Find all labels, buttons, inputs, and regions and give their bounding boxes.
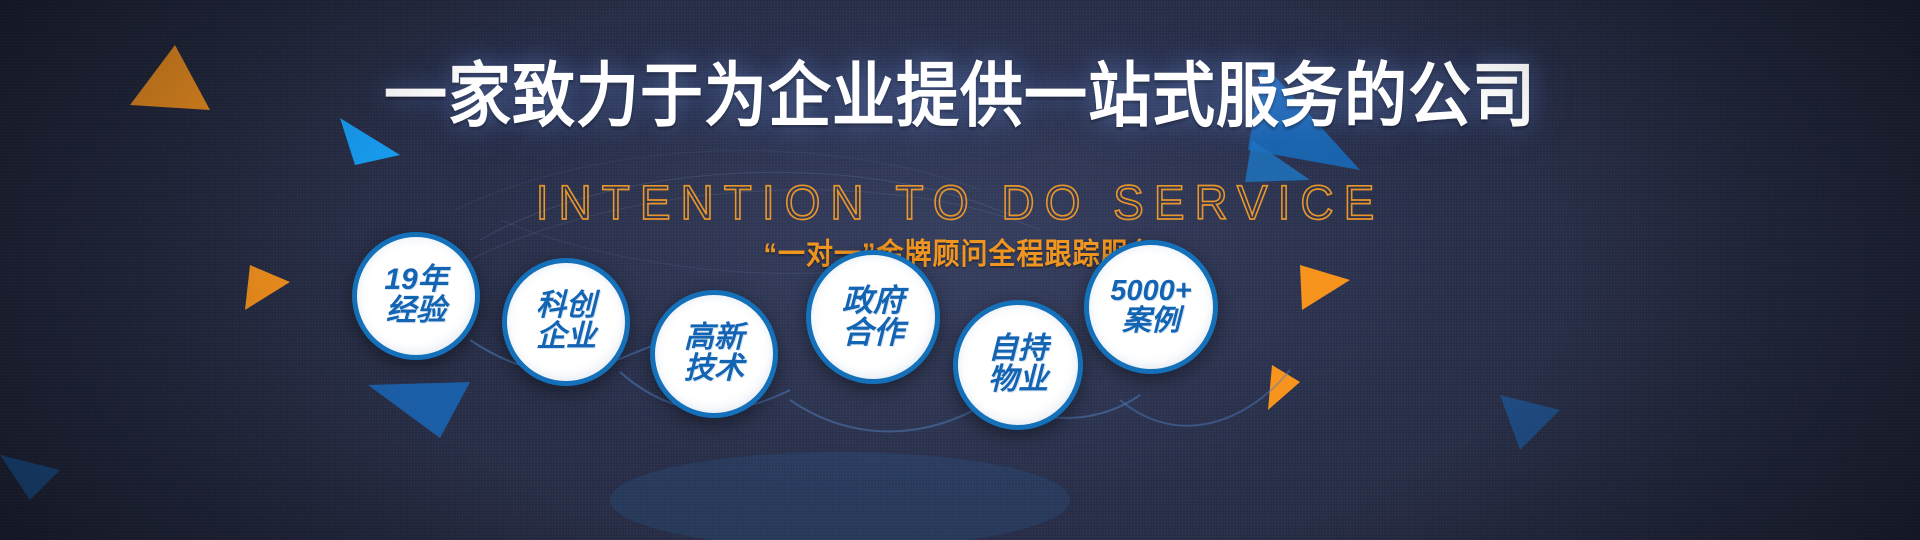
promo-banner: 一家致力于为企业提供一站式服务的公司 INTENTION TO DO SERVI… <box>0 0 1920 540</box>
badge-line1: 科创 <box>536 291 596 322</box>
badge-line2: 合作 <box>842 317 904 349</box>
badge-experience[interactable]: 19年 经验 <box>352 232 480 360</box>
badge-cases[interactable]: 5000+ 案例 <box>1084 240 1218 374</box>
badge-line1: 政府 <box>842 285 904 317</box>
badge-line1: 自持 <box>988 334 1048 365</box>
badge-hightech[interactable]: 高新 技术 <box>650 290 778 418</box>
badge-line1: 19年 <box>384 265 447 296</box>
badge-line2: 案例 <box>1122 307 1180 337</box>
badge-line2: 企业 <box>536 322 596 353</box>
badge-innovation[interactable]: 科创 企业 <box>502 258 630 386</box>
badge-government[interactable]: 政府 合作 <box>806 250 940 384</box>
badge-group: 19年 经验 科创 企业 高新 技术 政府 合作 自持 物业 5000+ 案例 <box>0 0 1920 540</box>
badge-property[interactable]: 自持 物业 <box>953 300 1083 430</box>
badge-line2: 经验 <box>386 296 446 327</box>
badge-line1: 高新 <box>684 323 744 354</box>
badge-line1: 5000+ <box>1110 277 1191 307</box>
badge-line2: 技术 <box>684 354 744 385</box>
badge-line2: 物业 <box>988 365 1048 396</box>
